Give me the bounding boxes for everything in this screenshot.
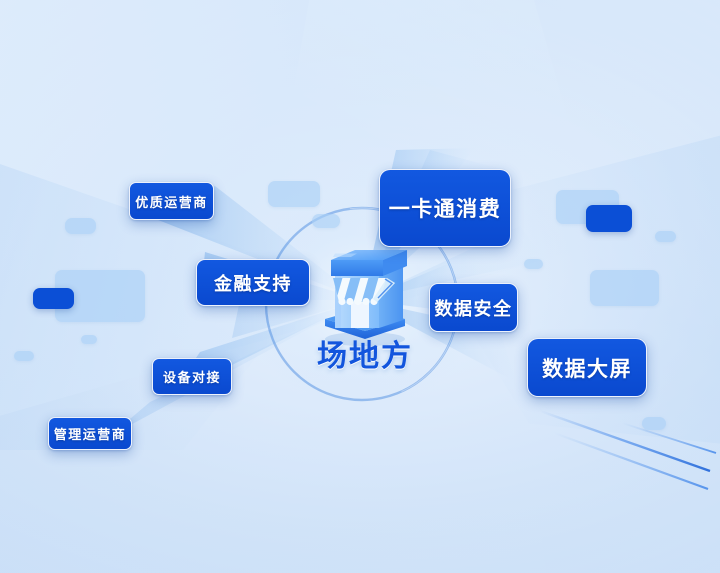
deco-11	[14, 351, 34, 361]
label-card-text: 管理运营商	[54, 424, 127, 443]
deco-1	[268, 181, 320, 207]
label-card-jinrong-zhichi[interactable]: 金融支持	[196, 259, 310, 306]
speed-line-3	[622, 423, 716, 453]
deco-9	[524, 259, 543, 269]
label-card-text: 金融支持	[214, 270, 292, 296]
speed-lines-decoration	[530, 393, 720, 513]
label-card-text: 一卡通消费	[389, 193, 502, 223]
infographic-canvas: 场地方 优质运营商金融支持设备对接管理运营商一卡通消费数据安全数据大屏	[0, 0, 720, 573]
deco-4	[33, 288, 74, 309]
label-card-guanli-yunyingshang[interactable]: 管理运营商	[48, 417, 132, 450]
deco-10	[590, 270, 659, 306]
label-card-shebei-duijie[interactable]: 设备对接	[152, 358, 232, 395]
deco-2	[65, 218, 96, 234]
label-card-text: 设备对接	[163, 367, 221, 386]
label-card-text: 数据安全	[435, 295, 513, 321]
label-card-shuju-anquan[interactable]: 数据安全	[429, 283, 518, 332]
speed-line-1	[540, 411, 710, 471]
deco-5	[312, 214, 340, 228]
label-card-text: 优质运营商	[135, 192, 208, 211]
label-card-text: 数据大屏	[542, 353, 632, 383]
label-card-yikatong-xiaofei[interactable]: 一卡通消费	[379, 169, 511, 247]
page-title: 场地方	[285, 331, 445, 375]
label-card-shuju-daping[interactable]: 数据大屏	[527, 338, 647, 397]
label-card-youzhi-yunyingshang[interactable]: 优质运营商	[129, 182, 214, 220]
deco-8	[655, 231, 676, 242]
deco-13	[81, 335, 97, 344]
deco-7	[586, 205, 632, 232]
